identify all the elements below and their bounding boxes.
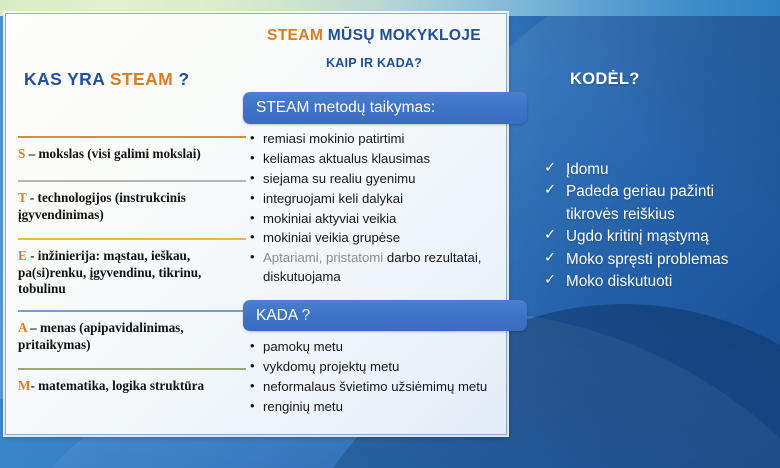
list-item-text: remiasi mokinio patirtimi xyxy=(263,131,404,146)
list-item: integruojami keli dalykai xyxy=(248,190,520,209)
left-title-accent: STEAM xyxy=(110,69,173,89)
list-item: remiasi mokinio patirtimi xyxy=(248,130,520,149)
list-item-text: renginių metu xyxy=(263,399,343,414)
steam-definition: – mokslas (visi galimi mokslai) xyxy=(25,146,200,161)
when-header-label: KADA ? xyxy=(256,307,310,325)
divider xyxy=(18,136,246,138)
steam-letter: E xyxy=(18,248,27,263)
list-item-text: keliamas aktualus klausimas xyxy=(263,151,430,166)
content-panel: KAS YRA STEAM ? S – mokslas (visi galimi… xyxy=(5,13,507,435)
steam-entry: E - inžinierija: mąstau, ieškau, pa(si)r… xyxy=(18,244,236,298)
check-icon: ✓ xyxy=(544,159,556,178)
list-item-text: Padeda geriau pažinti xyxy=(566,183,714,200)
list-item: A – menas (apipavidalinimas, pritaikymas… xyxy=(18,310,236,368)
center-column-subtitle: KAIP IR KADA? xyxy=(242,56,506,70)
list-item: mokiniai aktyviai veikia xyxy=(248,210,520,229)
center-column: STEAM MŪSŲ MOKYKLOJE KAIP IR KADA? STEAM… xyxy=(242,14,506,434)
list-item: ✓ Įdomu xyxy=(542,160,780,180)
list-item-text: vykdomų projektų metu xyxy=(263,359,399,374)
steam-entry: M- matematika, logika struktūra xyxy=(18,374,236,395)
list-item-text: neformalaus švietimo užsiėmimų metu xyxy=(263,379,487,394)
center-title-accent: STEAM xyxy=(267,27,323,44)
benefits-list: ✓ Įdomu ✓ Padeda geriau pažinti tikrovės… xyxy=(542,160,780,295)
list-item-text: siejama su realiu gyenimu xyxy=(263,171,415,186)
methods-header-label: STEAM metodų taikymas: xyxy=(256,99,435,117)
list-item: mokiniai veikia grupėse xyxy=(248,229,520,248)
steam-definition-list: S – mokslas (visi galimi mokslai) T - te… xyxy=(18,136,236,412)
list-item-text-muted: Aptariami, pristatomi xyxy=(263,250,387,265)
list-item: siejama su realiu gyenimu xyxy=(248,170,520,189)
divider xyxy=(18,180,246,182)
list-item: ✓ Ugdo kritinį mąstymą xyxy=(542,227,780,247)
steam-definition: – menas (apipavidalinimas, pritaikymas) xyxy=(18,320,184,352)
list-item: E - inžinierija: mąstau, ieškau, pa(si)r… xyxy=(18,238,236,310)
divider xyxy=(18,368,246,370)
steam-entry: T - technologijos (instrukcinis įgyvendi… xyxy=(18,186,236,223)
list-item: pamokų metu xyxy=(248,338,520,357)
list-item-text: mokiniai veikia grupėse xyxy=(263,230,400,245)
list-item-text: Moko diskutuoti xyxy=(566,273,672,290)
check-icon: ✓ xyxy=(544,181,556,200)
list-item: vykdomų projektų metu xyxy=(248,358,520,377)
left-title-prefix: KAS YRA xyxy=(24,69,110,89)
right-column: KODĖL? ✓ Įdomu ✓ Padeda geriau pažinti t… xyxy=(512,0,780,468)
list-item-text: Moko spręsti problemas xyxy=(566,251,728,268)
list-item: ✓ Padeda geriau pažinti xyxy=(542,182,780,202)
right-column-title: KODĖL? xyxy=(570,70,640,89)
steam-letter: A xyxy=(18,320,27,335)
when-header-bar: KADA ? xyxy=(243,300,527,331)
list-item: neformalaus švietimo užsiėmimų metu xyxy=(248,378,520,397)
left-column-title: KAS YRA STEAM ? xyxy=(24,69,189,90)
check-icon: ✓ xyxy=(544,249,556,268)
when-list: pamokų metu vykdomų projektų metu neform… xyxy=(248,338,520,418)
slide-canvas: KAS YRA STEAM ? S – mokslas (visi galimi… xyxy=(0,0,780,468)
steam-letter: M xyxy=(18,378,30,393)
list-item-text: pamokų metu xyxy=(263,339,343,354)
left-title-suffix: ? xyxy=(173,69,189,89)
list-item: ✓ Moko spręsti problemas xyxy=(542,250,780,270)
check-icon: ✓ xyxy=(544,271,556,290)
list-item-text: mokiniai aktyviai veikia xyxy=(263,211,396,226)
methods-list: remiasi mokinio patirtimi keliamas aktua… xyxy=(248,130,520,288)
steam-entry: A – menas (apipavidalinimas, pritaikymas… xyxy=(18,316,236,353)
list-item: Aptariami, pristatomi darbo rezultatai, … xyxy=(248,249,520,287)
list-item: T - technologijos (instrukcinis įgyvendi… xyxy=(18,180,236,238)
steam-definition: - matematika, logika struktūra xyxy=(30,378,204,393)
list-item: M- matematika, logika struktūra xyxy=(18,368,236,412)
center-column-title: STEAM MŪSŲ MOKYKLOJE xyxy=(242,27,506,45)
steam-letter: T xyxy=(18,190,27,205)
list-item-text: Ugdo kritinį mąstymą xyxy=(566,228,709,245)
list-item-text: Įdomu xyxy=(566,161,609,178)
list-item: ✓ Moko diskutuoti xyxy=(542,272,780,292)
list-item: S – mokslas (visi galimi mokslai) xyxy=(18,136,236,180)
list-item: keliamas aktualus klausimas xyxy=(248,150,520,169)
steam-definition: - technologijos (instrukcinis įgyvendini… xyxy=(18,190,186,222)
check-icon: ✓ xyxy=(544,226,556,245)
methods-header-bar: STEAM metodų taikymas: xyxy=(243,92,527,124)
left-column: KAS YRA STEAM ? S – mokslas (visi galimi… xyxy=(6,14,241,434)
divider xyxy=(18,238,246,240)
center-title-rest: MŪSŲ MOKYKLOJE xyxy=(323,27,481,44)
list-item-continuation: tikrovės reiškius xyxy=(542,205,780,225)
list-item-text: integruojami keli dalykai xyxy=(263,191,403,206)
steam-entry: S – mokslas (visi galimi mokslai) xyxy=(18,142,236,163)
divider xyxy=(18,310,246,312)
list-item: renginių metu xyxy=(248,398,520,417)
steam-definition: - inžinierija: mąstau, ieškau, pa(si)ren… xyxy=(18,248,201,296)
